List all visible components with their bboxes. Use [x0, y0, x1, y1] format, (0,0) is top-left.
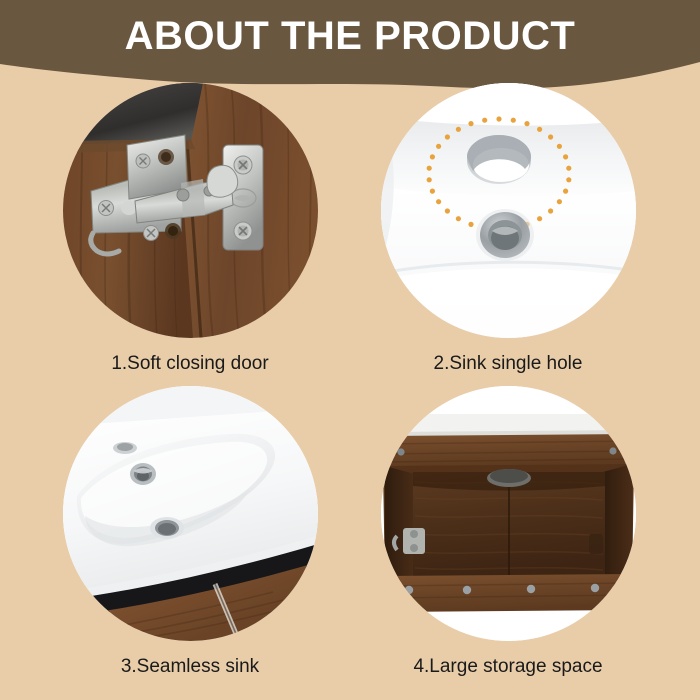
plumbing-cutout [487, 469, 531, 487]
feature-item-2: 2.Sink single hole [363, 83, 653, 376]
large-storage-space-photo [381, 386, 636, 641]
feature-item-3: 3.Seamless sink [45, 386, 335, 679]
cabinet-hinge-photo [63, 83, 318, 338]
feature-photo-1 [63, 83, 318, 338]
faucet-hole-ring [130, 463, 156, 485]
feature-caption-2: 2.Sink single hole [363, 352, 653, 376]
feature-grid: 1.Soft closing door [0, 0, 700, 700]
overflow-drain [476, 209, 534, 261]
sink-single-hole-photo [381, 83, 636, 338]
drain-hole [150, 517, 184, 539]
feature-photo-3 [63, 386, 318, 641]
feature-caption-3: 3.Seamless sink [45, 655, 335, 679]
sink-hole-small [113, 442, 137, 454]
interior-hardware-right [589, 534, 603, 554]
faucet-hole [467, 135, 531, 184]
feature-item-4: 4.Large storage space [363, 386, 653, 679]
feature-caption-1: 1.Soft closing door [45, 352, 335, 376]
feature-photo-4 [381, 386, 636, 641]
infographic-page: ABOUT THE PRODUCT [0, 0, 700, 700]
feature-photo-2 [381, 83, 636, 338]
feature-caption-4: 4.Large storage space [363, 655, 653, 679]
feature-item-1: 1.Soft closing door [45, 83, 335, 376]
seamless-sink-photo [63, 386, 318, 641]
